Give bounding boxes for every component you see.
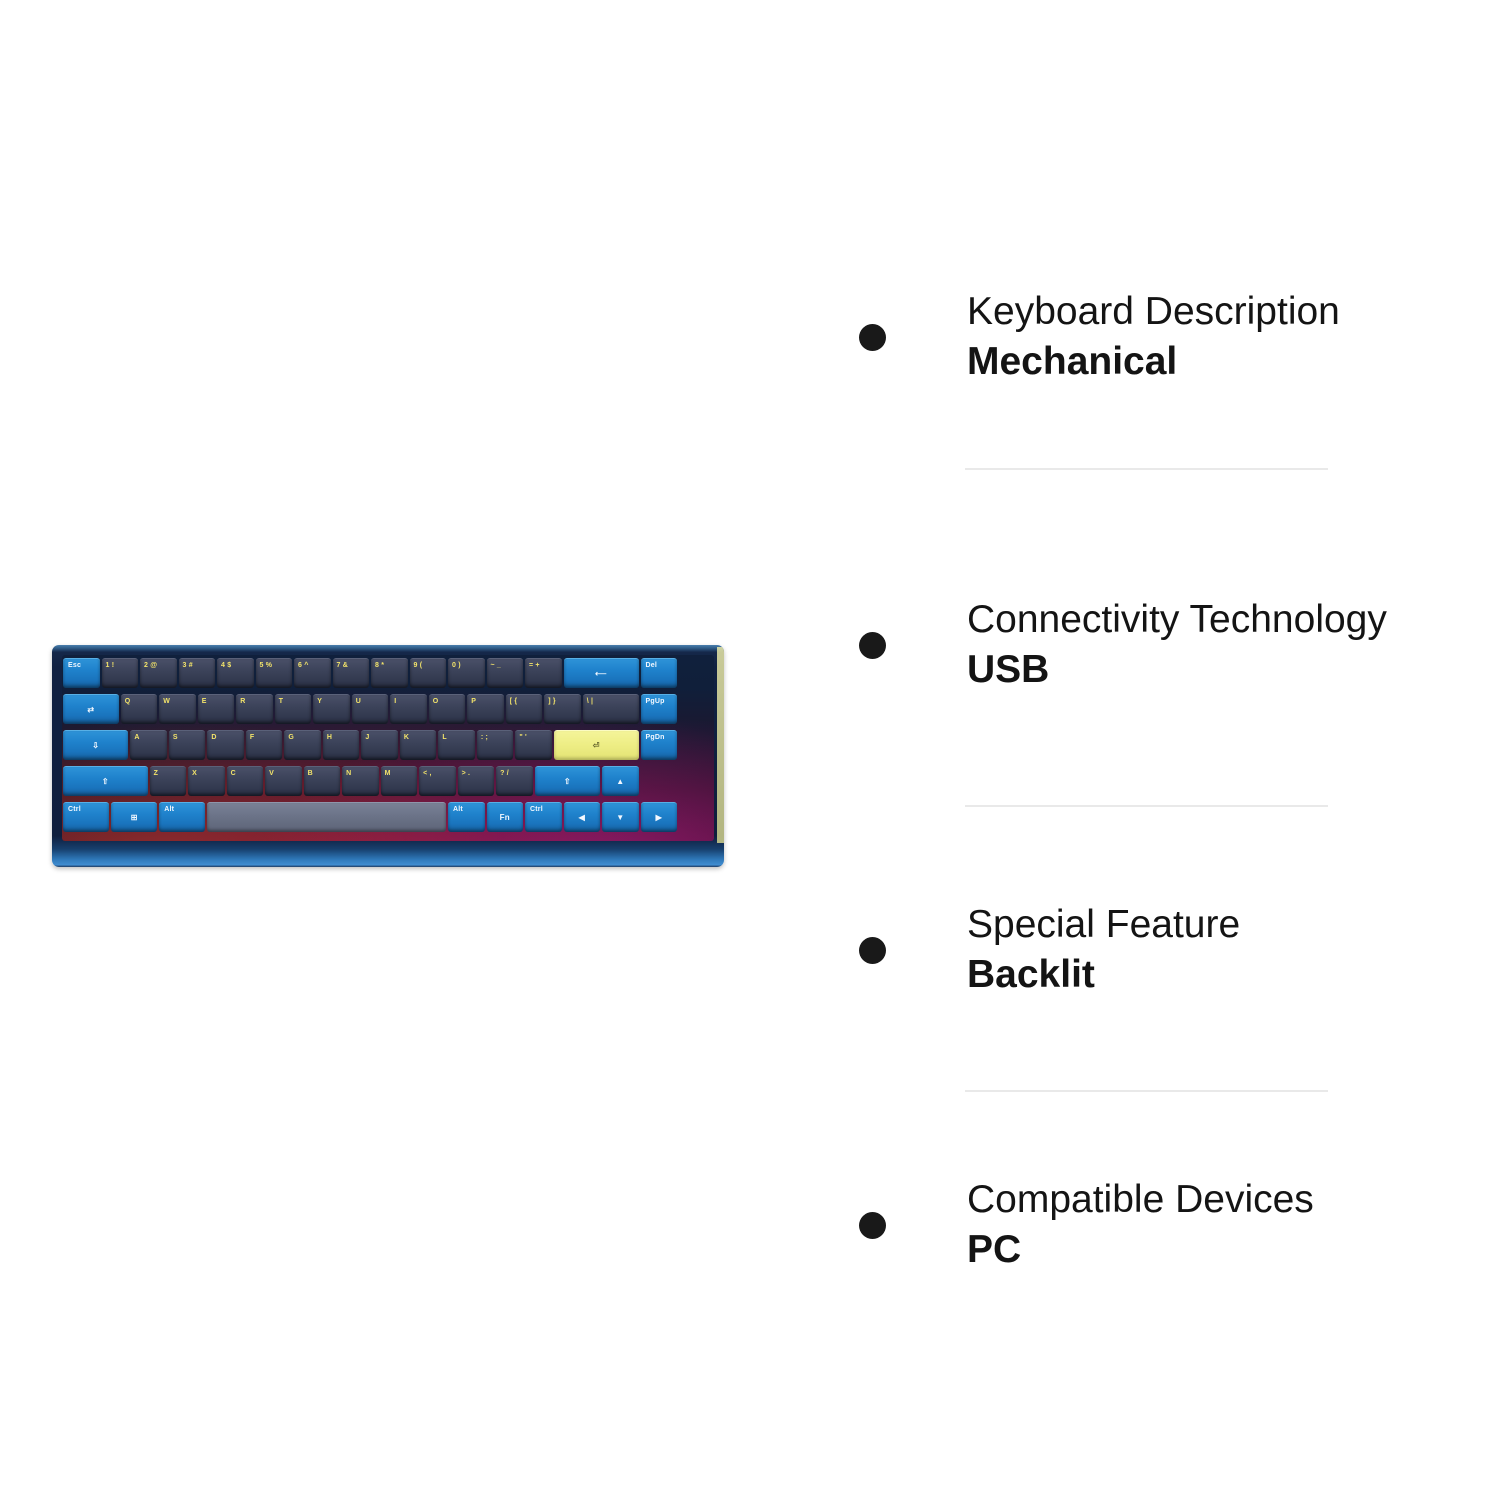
mechanical-keyboard-image[interactable]: Esc1 !2 @3 #4 $5 %6 ^7 &8 *9 (0 )~ _= +⟵… (52, 645, 724, 867)
key-o[interactable]: O (429, 694, 466, 724)
bullet-point-wrapper (825, 632, 886, 659)
key-3[interactable]: 3 # (179, 658, 216, 688)
keyboard-row-top-row: ⇄QWERTYUIOP[ {] }\ |PgUp (62, 692, 714, 726)
key-space[interactable]: " ' (515, 730, 552, 760)
key-space[interactable]: ⇧ (63, 766, 148, 796)
key-space[interactable]: ~ _ (487, 658, 524, 688)
key-space[interactable]: ⇩ (63, 730, 128, 760)
key-c[interactable]: C (227, 766, 264, 796)
key-j[interactable]: J (361, 730, 398, 760)
key-0[interactable]: 0 ) (448, 658, 485, 688)
key-6[interactable]: 6 ^ (294, 658, 331, 688)
key-2[interactable]: 2 @ (140, 658, 177, 688)
keyboard-row-modifier-row: Ctrl⊞AltAltFnCtrl◀▼▶ (62, 800, 714, 834)
keyboard-row-number-row: Esc1 !2 @3 #4 $5 %6 ^7 &8 *9 (0 )~ _= +⟵… (62, 656, 714, 690)
spec-label: Keyboard Description (967, 288, 1340, 336)
key-space[interactable]: ] } (544, 694, 581, 724)
key-space[interactable]: < , (419, 766, 456, 796)
key-space[interactable]: [ { (506, 694, 543, 724)
key-5[interactable]: 5 % (256, 658, 293, 688)
key-pgdn[interactable]: PgDn (641, 730, 678, 760)
key-space[interactable] (207, 802, 446, 832)
key-space[interactable]: ⏎ (554, 730, 639, 760)
spec-label: Connectivity Technology (967, 596, 1387, 644)
key-9[interactable]: 9 ( (410, 658, 447, 688)
spec-value: Mechanical (967, 338, 1340, 386)
key-g[interactable]: G (284, 730, 321, 760)
key-m[interactable]: M (381, 766, 418, 796)
key-7[interactable]: 7 & (333, 658, 370, 688)
key-w[interactable]: W (159, 694, 196, 724)
key-space[interactable]: ? / (496, 766, 533, 796)
bullet-point-wrapper (825, 324, 886, 351)
key-fn[interactable]: Fn (487, 802, 524, 832)
spec-value: Backlit (967, 951, 1240, 999)
spec-divider (965, 468, 1328, 470)
key-e[interactable]: E (198, 694, 235, 724)
key-l[interactable]: L (438, 730, 475, 760)
spec-text-block: Special Feature Backlit (967, 901, 1240, 998)
key-ctrl[interactable]: Ctrl (63, 802, 109, 832)
spec-item-special-feature: Special Feature Backlit (790, 875, 1500, 1025)
key-space[interactable]: = + (525, 658, 562, 688)
key-space[interactable]: ▼ (602, 802, 639, 832)
key-alt[interactable]: Alt (448, 802, 485, 832)
key-x[interactable]: X (188, 766, 225, 796)
key-i[interactable]: I (390, 694, 427, 724)
spec-label: Special Feature (967, 901, 1240, 949)
spec-divider (965, 805, 1328, 807)
key-4[interactable]: 4 $ (217, 658, 254, 688)
spec-value: USB (967, 646, 1387, 694)
keyboard-key-plate: Esc1 !2 @3 #4 $5 %6 ^7 &8 *9 (0 )~ _= +⟵… (62, 655, 714, 841)
product-detail-page: Esc1 !2 @3 #4 $5 %6 ^7 &8 *9 (0 )~ _= +⟵… (0, 0, 1500, 1500)
spec-label: Compatible Devices (967, 1176, 1314, 1224)
key-pgup[interactable]: PgUp (641, 694, 678, 724)
key-space[interactable]: ⟵ (564, 658, 639, 688)
key-1[interactable]: 1 ! (102, 658, 139, 688)
key-d[interactable]: D (207, 730, 244, 760)
product-image-panel: Esc1 !2 @3 #4 $5 %6 ^7 &8 *9 (0 )~ _= +⟵… (0, 0, 790, 1500)
key-del[interactable]: Del (641, 658, 678, 688)
key-s[interactable]: S (169, 730, 206, 760)
spec-item-keyboard-description: Keyboard Description Mechanical (790, 262, 1500, 412)
key-t[interactable]: T (275, 694, 312, 724)
spec-item-compatible-devices: Compatible Devices PC (790, 1150, 1500, 1300)
key-ctrl[interactable]: Ctrl (525, 802, 562, 832)
bullet-dot-icon (859, 1212, 886, 1239)
bullet-dot-icon (859, 324, 886, 351)
key-space[interactable]: ▶ (641, 802, 678, 832)
key-space[interactable]: ▲ (602, 766, 639, 796)
key-space[interactable]: ◀ (564, 802, 601, 832)
spec-divider (965, 1090, 1328, 1092)
key-b[interactable]: B (304, 766, 341, 796)
key-space[interactable]: ⇧ (535, 766, 600, 796)
keyboard-row-home-row: ⇩ASDFGHJKL: ;" '⏎PgDn (62, 728, 714, 762)
spec-text-block: Compatible Devices PC (967, 1176, 1314, 1273)
key-space[interactable]: \ | (583, 694, 639, 724)
key-u[interactable]: U (352, 694, 389, 724)
bullet-point-wrapper (825, 1212, 886, 1239)
bullet-point-wrapper (825, 937, 886, 964)
key-n[interactable]: N (342, 766, 379, 796)
key-space[interactable]: : ; (477, 730, 514, 760)
key-y[interactable]: Y (313, 694, 350, 724)
key-a[interactable]: A (130, 730, 167, 760)
key-q[interactable]: Q (121, 694, 158, 724)
specification-list: Keyboard Description Mechanical Connecti… (790, 0, 1500, 1500)
key-alt[interactable]: Alt (159, 802, 205, 832)
keyboard-row-bottom-alpha-row: ⇧ZXCVBNM< ,> .? /⇧▲ (62, 764, 714, 798)
key-8[interactable]: 8 * (371, 658, 408, 688)
key-r[interactable]: R (236, 694, 273, 724)
spec-text-block: Connectivity Technology USB (967, 596, 1387, 693)
bullet-dot-icon (859, 937, 886, 964)
spec-item-connectivity-technology: Connectivity Technology USB (790, 540, 1500, 750)
key-space[interactable]: > . (458, 766, 495, 796)
key-esc[interactable]: Esc (63, 658, 100, 688)
key-z[interactable]: Z (150, 766, 187, 796)
spec-text-block: Keyboard Description Mechanical (967, 288, 1340, 385)
key-space[interactable]: ⇄ (63, 694, 119, 724)
bullet-dot-icon (859, 632, 886, 659)
key-k[interactable]: K (400, 730, 437, 760)
key-f[interactable]: F (246, 730, 283, 760)
key-p[interactable]: P (467, 694, 504, 724)
key-space[interactable]: ⊞ (111, 802, 157, 832)
key-v[interactable]: V (265, 766, 302, 796)
key-h[interactable]: H (323, 730, 360, 760)
spec-value: PC (967, 1226, 1314, 1274)
